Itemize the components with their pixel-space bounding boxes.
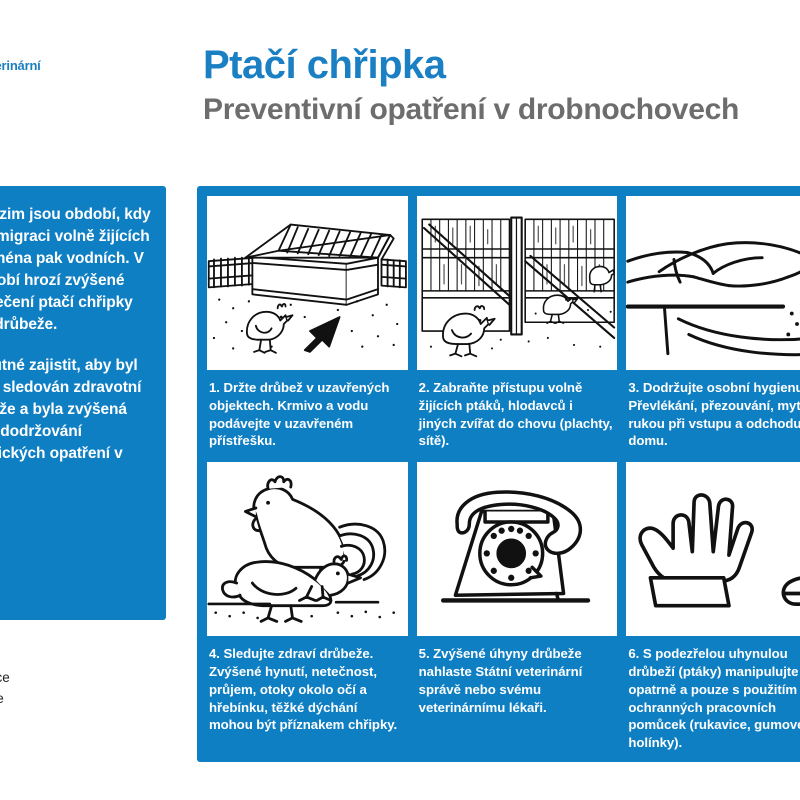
rotary-telephone-icon	[417, 462, 618, 636]
organization-logo: Státní veterinární správa	[0, 58, 68, 91]
measure-caption-1: 1. Držte drůbež v uzavřených objektech. …	[207, 370, 408, 450]
logo-line-1: Státní veterinární	[0, 58, 68, 75]
hand-washing-icon	[626, 196, 800, 370]
measure-caption-5: 5. Zvýšené úhyny drůbeže nahlaste Státní…	[417, 636, 618, 716]
footnote-line-3: naleznete na	[0, 710, 106, 731]
footnote: Další informace o ptačí chřipce naleznet…	[0, 668, 106, 752]
logo-line-2: správa	[0, 75, 68, 92]
page-title: Ptačí chřipka	[203, 44, 800, 86]
measure-caption-4: 4. Sledujte zdraví drůbeže. Zvýšené hynu…	[207, 636, 408, 734]
info-box: Jaro a podzim jsou období, kdy dochází k…	[0, 186, 166, 620]
fence-barrier-wild-birds-icon	[417, 196, 618, 370]
header: Ptačí chřipka Preventivní opatření v dro…	[203, 44, 800, 126]
measure-panel-2: 2. Zabraňte přístupu volně žijících pták…	[417, 196, 618, 453]
footnote-line-1: Další informace	[0, 668, 106, 689]
measure-caption-2: 2. Zabraňte přístupu volně žijících pták…	[417, 370, 618, 450]
measure-panel-1: 1. Držte drůbež v uzavřených objektech. …	[207, 196, 408, 453]
measure-panel-6: 6. S podezřelou uhynulou drůbeží (ptáky)…	[626, 462, 800, 752]
measure-panel-5: 5. Zvýšené úhyny drůbeže nahlaste Státní…	[417, 462, 618, 752]
footnote-line-2: o ptačí chřipce	[0, 689, 106, 710]
measure-caption-3: 3. Dodržujte osobní hygienu. Převlékání,…	[626, 370, 800, 450]
page-subtitle: Preventivní opatření v drobnochovech	[203, 93, 800, 126]
poster-root: Státní veterinární správa Ptačí chřipka …	[0, 0, 800, 800]
coop-with-fence-and-chicken-icon	[207, 196, 408, 370]
info-paragraph-2: Proto je nutné zajistit, aby byl pravide…	[0, 355, 154, 487]
measure-caption-6: 6. S podezřelou uhynulou drůbeží (ptáky)…	[626, 636, 800, 752]
measures-grid: 1. Držte drůbež v uzavřených objektech. …	[197, 186, 800, 762]
info-paragraph-1: Jaro a podzim jsou období, kdy dochází k…	[0, 204, 154, 336]
footnote-website[interactable]: www.svscr.cz	[0, 731, 106, 752]
measure-panel-3: 3. Dodržujte osobní hygienu. Převlékání,…	[626, 196, 800, 453]
measure-panel-4: 4. Sledujte zdraví drůbeže. Zvýšené hynu…	[207, 462, 408, 752]
rooster-and-hen-icon	[207, 462, 408, 636]
protective-glove-icon	[626, 462, 800, 636]
